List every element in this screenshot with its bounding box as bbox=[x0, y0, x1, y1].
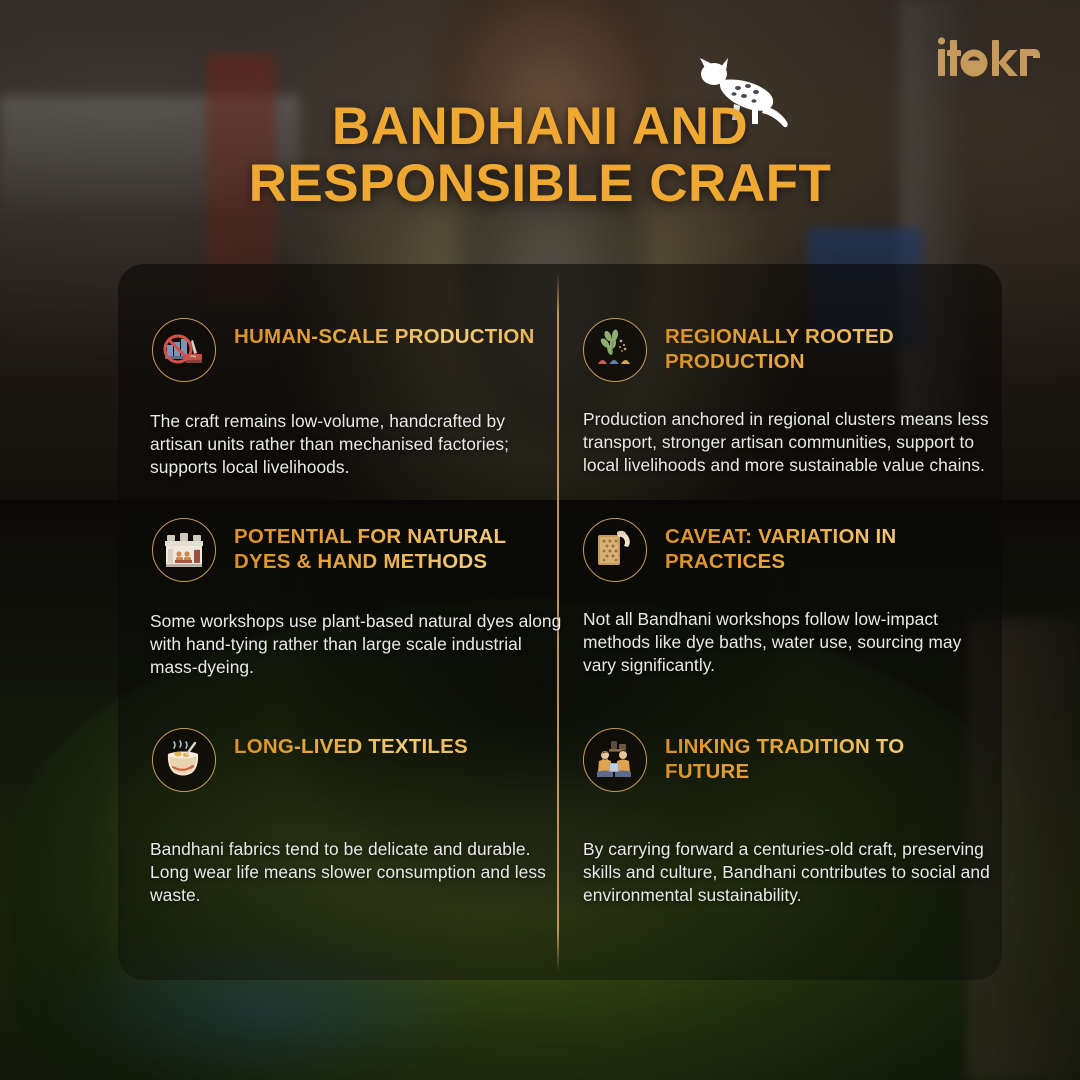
card-head: LONG-LIVED TEXTILES bbox=[152, 728, 562, 792]
card-body: The craft remains low-volume, handcrafte… bbox=[150, 410, 562, 479]
card-long-lived-textiles: LONG-LIVED TEXTILES Bandhani fabrics ten… bbox=[152, 728, 562, 907]
card-head: HUMAN-SCALE PRODUCTION bbox=[152, 318, 562, 382]
workshop-building-icon bbox=[152, 518, 216, 582]
card-title: LINKING TRADITION TO FUTURE bbox=[665, 728, 993, 784]
card-head: POTENTIAL FOR NATURAL DYES & HAND METHOD… bbox=[152, 518, 562, 582]
steaming-dye-pot-icon bbox=[152, 728, 216, 792]
card-body: By carrying forward a centuries-old craf… bbox=[583, 838, 993, 907]
card-regionally-rooted-production: REGIONALLY ROOTED PRODUCTION Production … bbox=[583, 318, 993, 477]
card-head: REGIONALLY ROOTED PRODUCTION bbox=[583, 318, 993, 382]
card-caveat-variation-in-practices: CAVEAT: VARIATION IN PRACTICES Not all B… bbox=[583, 518, 993, 677]
card-body: Production anchored in regional clusters… bbox=[583, 408, 993, 477]
card-body: Not all Bandhani workshops follow low-im… bbox=[583, 608, 993, 677]
card-head: CAVEAT: VARIATION IN PRACTICES bbox=[583, 518, 993, 582]
card-body: Some workshops use plant-based natural d… bbox=[150, 610, 562, 679]
cards-grid: HUMAN-SCALE PRODUCTION The craft remains… bbox=[0, 0, 1080, 1080]
no-factory-icon bbox=[152, 318, 216, 382]
card-head: LINKING TRADITION TO FUTURE bbox=[583, 728, 993, 792]
card-human-scale-production: HUMAN-SCALE PRODUCTION The craft remains… bbox=[152, 318, 562, 479]
card-natural-dyes-hand-methods: POTENTIAL FOR NATURAL DYES & HAND METHOD… bbox=[152, 518, 562, 679]
card-linking-tradition-to-future: LINKING TRADITION TO FUTURE By carrying … bbox=[583, 728, 993, 907]
card-title: POTENTIAL FOR NATURAL DYES & HAND METHOD… bbox=[234, 518, 562, 574]
card-title: HUMAN-SCALE PRODUCTION bbox=[234, 318, 535, 349]
card-title: CAVEAT: VARIATION IN PRACTICES bbox=[665, 518, 993, 574]
natural-dye-leaves-icon bbox=[583, 318, 647, 382]
hand-holding-fabric-icon bbox=[583, 518, 647, 582]
two-artisans-icon bbox=[583, 728, 647, 792]
card-body: Bandhani fabrics tend to be delicate and… bbox=[150, 838, 562, 907]
card-title: REGIONALLY ROOTED PRODUCTION bbox=[665, 318, 993, 374]
card-title: LONG-LIVED TEXTILES bbox=[234, 728, 468, 759]
